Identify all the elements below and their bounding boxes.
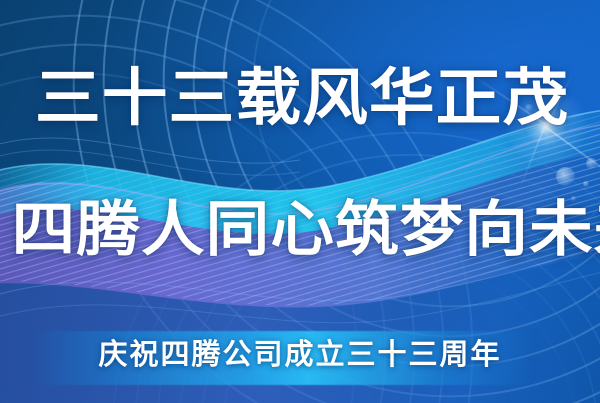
flare-ray-icon xyxy=(545,126,600,198)
subtitle-text: 庆祝四腾公司成立三十三周年 xyxy=(0,341,600,370)
headline-line-1: 三十三载风华正茂 xyxy=(35,68,565,130)
flare-ray-icon xyxy=(518,125,546,190)
bokeh-dot-icon xyxy=(586,158,597,169)
headline-line-2: 四腾人同心筑梦向未来 xyxy=(12,200,589,260)
anniversary-poster: 三十三载风华正茂 四腾人同心筑梦向未来 庆祝四腾公司成立三十三周年 xyxy=(0,0,600,403)
bokeh-dot-icon xyxy=(556,167,575,186)
bokeh-dot-icon xyxy=(583,181,589,187)
